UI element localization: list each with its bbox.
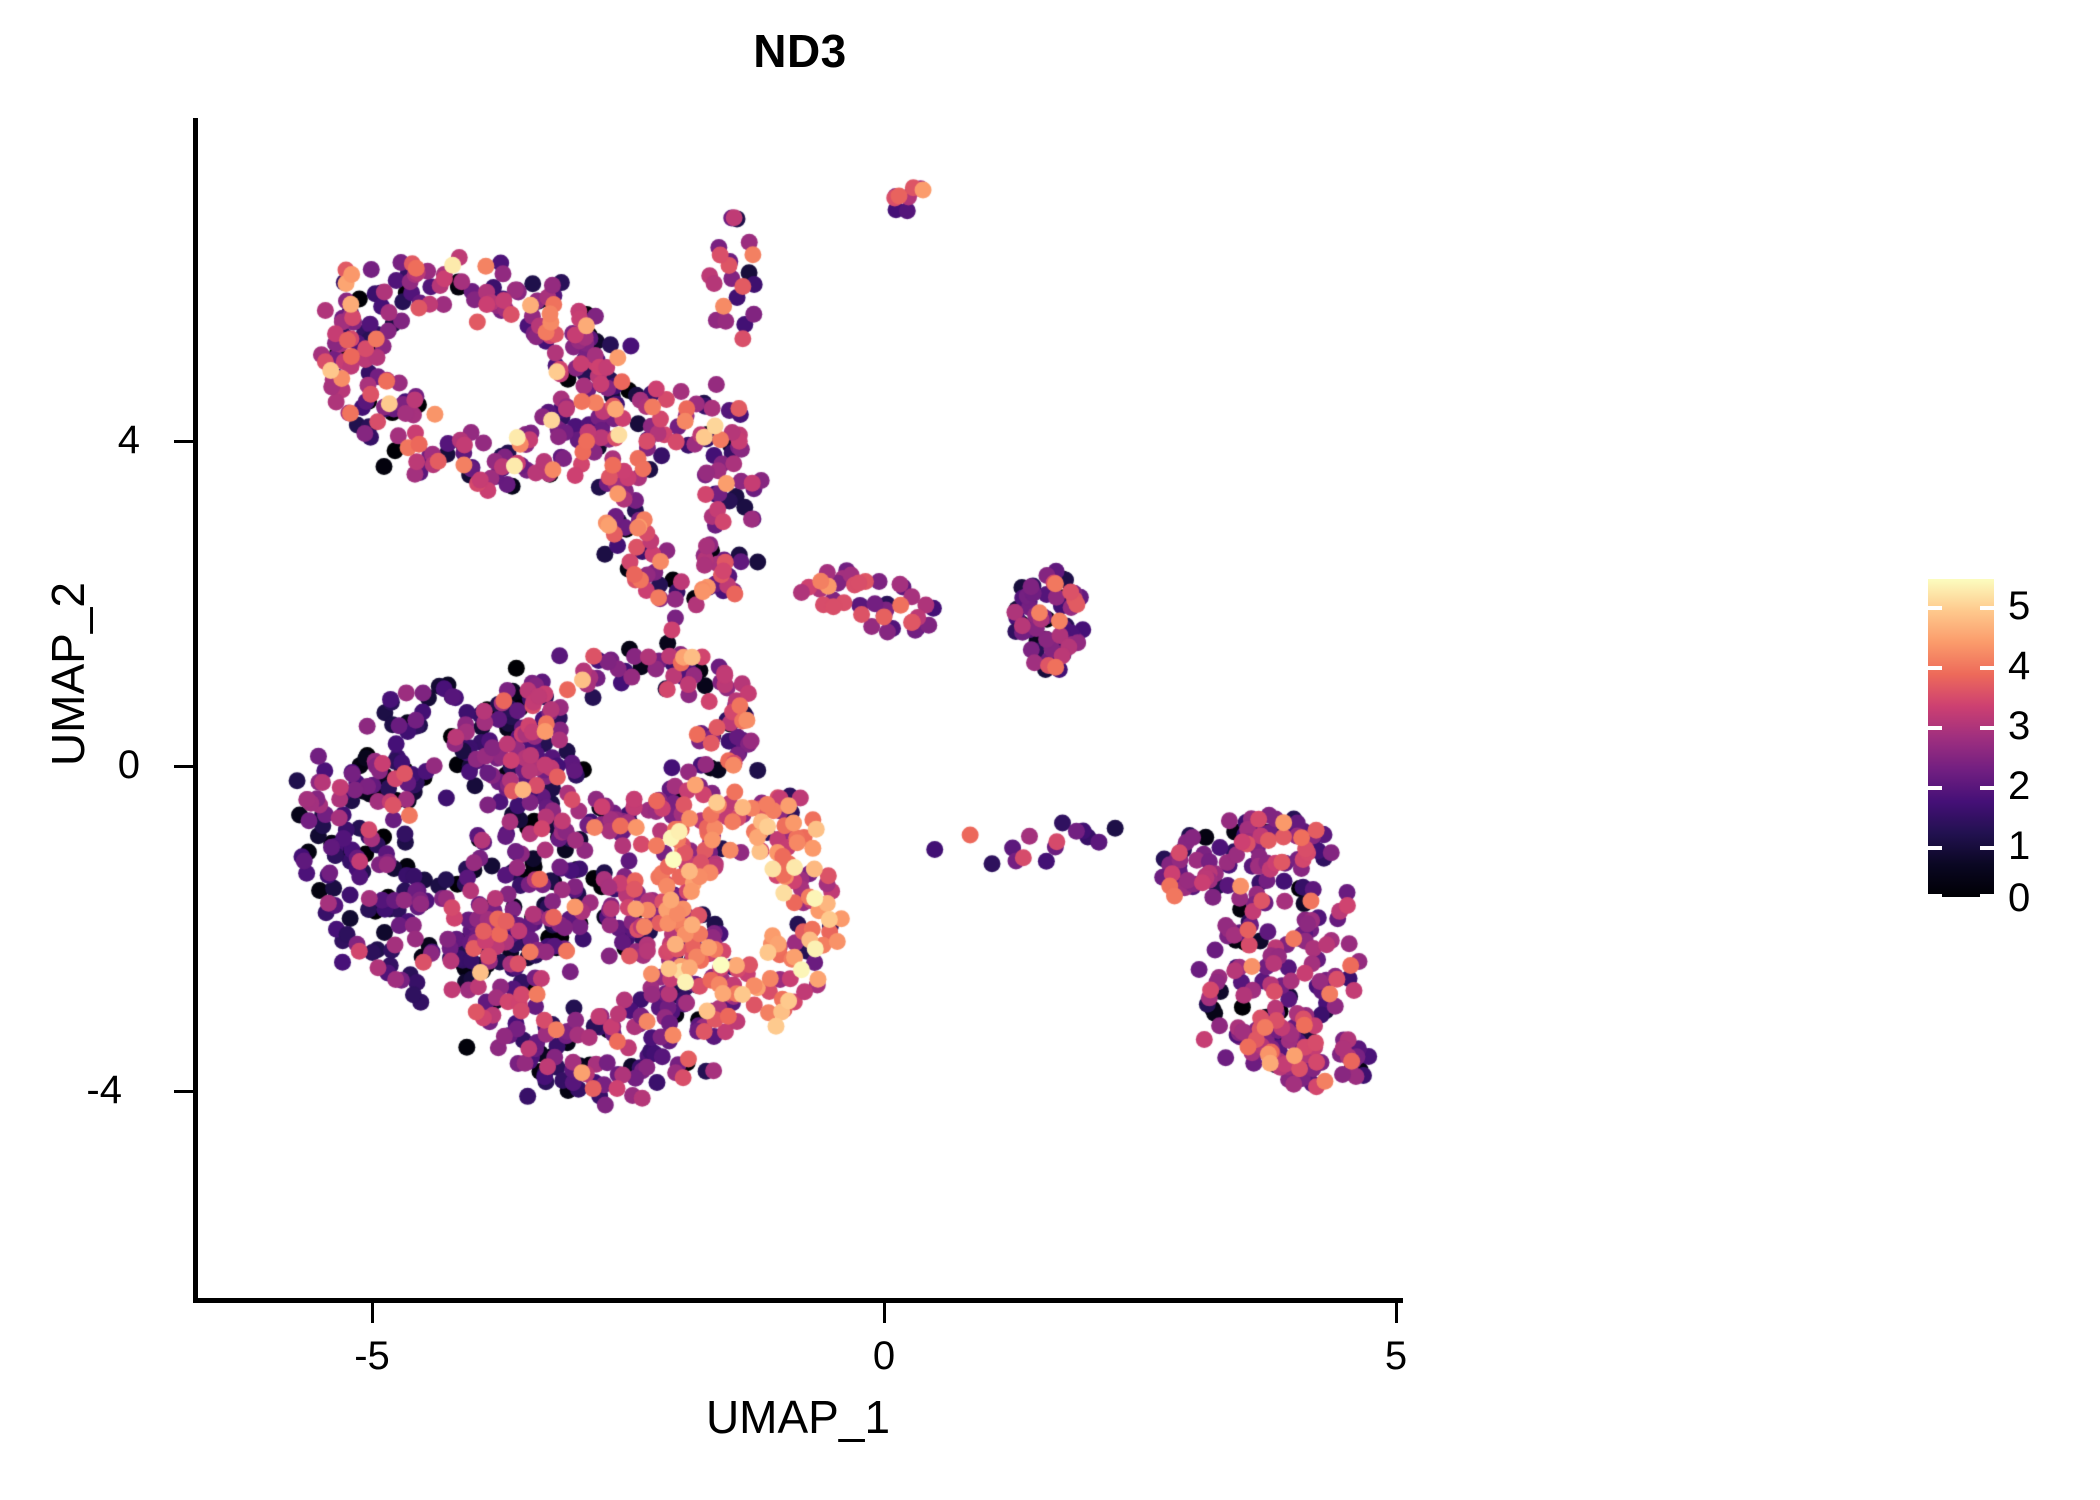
colorbar-tick-2-left: [1928, 786, 1942, 790]
colorbar-tick-5-left: [1928, 606, 1942, 610]
colorbar-tick-0-left: [1928, 894, 1942, 898]
colorbar-tick-1-right: [1980, 846, 1994, 850]
y-axis-title: UMAP_2: [41, 354, 95, 994]
colorbar-label-0: 0: [2008, 878, 2068, 918]
colorbar-tick-0-right: [1980, 894, 1994, 898]
page-title: ND3: [0, 24, 1600, 78]
colorbar-label-5: 5: [2008, 586, 2068, 626]
colorbar-tick-5-right: [1980, 606, 1994, 610]
x-axis-title: UMAP_1: [196, 1390, 1400, 1444]
colorbar-tick-3-right: [1980, 726, 1994, 730]
colorbar-label-3: 3: [2008, 706, 2068, 746]
colorbar-label-4: 4: [2008, 646, 2068, 686]
y-axis-tick-neg4: [174, 1090, 194, 1093]
x-axis-tick-5: [1395, 1303, 1398, 1323]
colorbar-tick-1-left: [1928, 846, 1942, 850]
colorbar-label-2: 2: [2008, 766, 2068, 806]
x-axis-tick-label-neg5: -5: [312, 1336, 432, 1376]
x-axis-tick-label-0: 0: [824, 1336, 944, 1376]
umap-feature-plot: ND3 4 0 -4 -5 0 5 UMAP_1 UMAP_2 5 4 3 2 …: [0, 0, 2100, 1500]
y-axis-tick-label-neg4: -4: [62, 1070, 122, 1110]
x-axis-tick-neg5: [371, 1303, 374, 1323]
x-axis-tick-0: [883, 1303, 886, 1323]
colorbar-tick-4-left: [1928, 666, 1942, 670]
colorbar-tick-4-right: [1980, 666, 1994, 670]
y-axis-tick-0: [174, 765, 194, 768]
colorbar-label-1: 1: [2008, 826, 2068, 866]
color-legend: 5 4 3 2 1 0: [1920, 560, 2090, 920]
colorbar-tick-2-right: [1980, 786, 1994, 790]
plot-panel: [196, 118, 1400, 1300]
y-axis-line: [193, 118, 198, 1303]
colorbar-tick-3-left: [1928, 726, 1942, 730]
x-axis-tick-label-5: 5: [1336, 1336, 1456, 1376]
x-axis-line: [193, 1298, 1403, 1303]
y-axis-tick-4: [174, 440, 194, 443]
